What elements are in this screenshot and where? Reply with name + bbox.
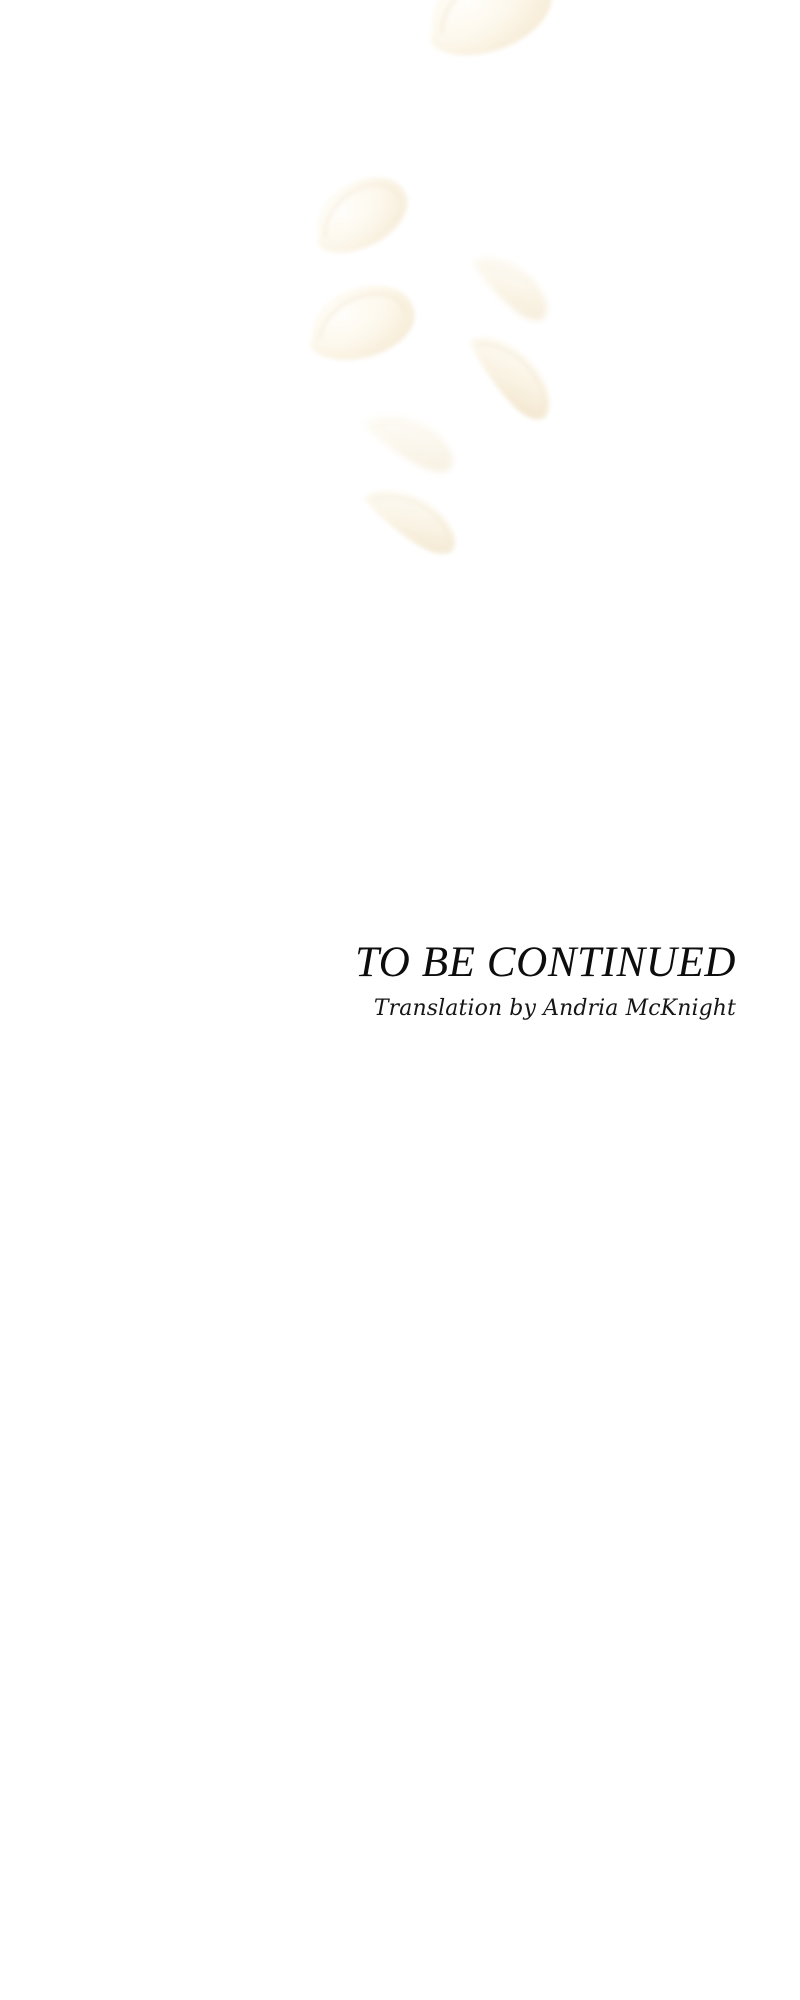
translation-credit: Translation by Andria McKnight [0,995,736,1023]
comic-end-panel: TO BE CONTINUED Translation by Andria Mc… [0,0,800,2000]
petal-2 [300,161,420,271]
petal-4-thin [466,243,560,327]
end-credits-block: TO BE CONTINUED Translation by Andria Mc… [0,940,800,1022]
petal-3 [297,271,424,376]
falling-flower-petals [0,0,800,760]
petal-1-top-clipped [411,0,567,77]
petal-6-faint [359,401,463,478]
petal-5-curved [460,320,565,427]
petal-7 [357,474,467,561]
to-be-continued-text: TO BE CONTINUED [0,940,736,986]
